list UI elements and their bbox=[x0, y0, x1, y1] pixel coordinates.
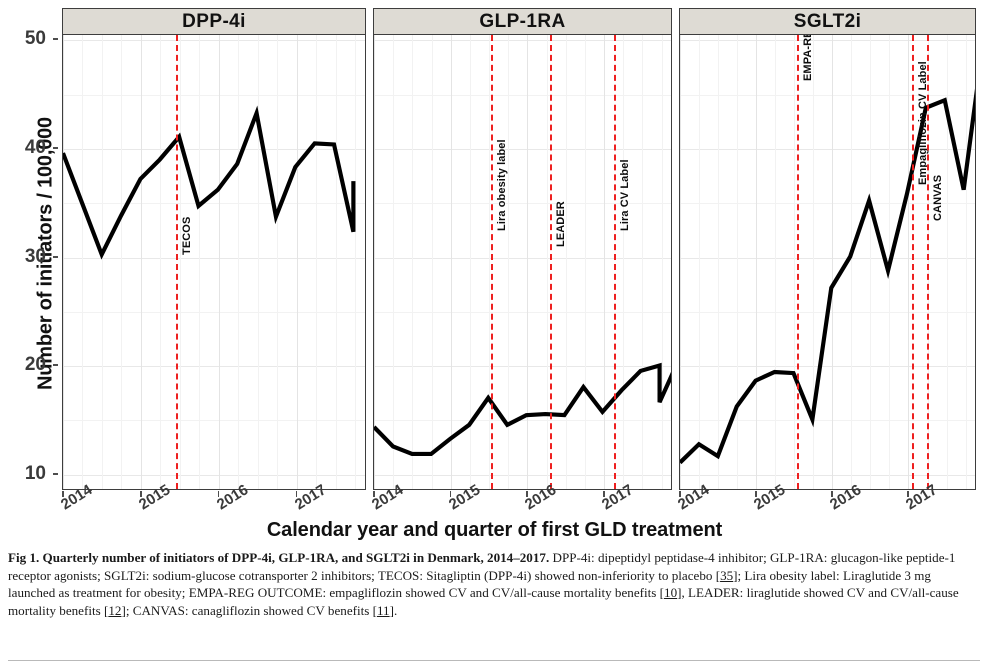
event-label-lira-cv-label: Lira CV Label bbox=[619, 159, 631, 231]
caption-text-4: ]; CANVAS: canagliflozin showed CV benef… bbox=[121, 603, 377, 618]
facet-panel-glp-1ra: GLP-1RALira obesity labelLEADERLira CV L… bbox=[373, 8, 672, 490]
caption-ref-10[interactable]: 10 bbox=[664, 585, 677, 600]
y-axis-tick-mark bbox=[53, 38, 58, 40]
y-axis-tick-mark bbox=[53, 473, 58, 475]
figure-page: Number of initiators / 100,000 102030405… bbox=[0, 0, 989, 666]
y-axis-tick-mark bbox=[53, 147, 58, 149]
series-line-dpp-4i bbox=[63, 35, 365, 489]
caption-ref-35[interactable]: 35 bbox=[720, 568, 733, 583]
facet-panel-sglt2i: SGLT2iEMPA-REG OUTCOMEEmpagliflozin CV L… bbox=[679, 8, 976, 490]
event-label-canvas: CANVAS bbox=[932, 175, 944, 221]
panel-strip-label: GLP-1RA bbox=[374, 9, 671, 35]
plot-area: Lira obesity labelLEADERLira CV Label bbox=[374, 35, 671, 489]
plot-area: TECOS bbox=[63, 35, 365, 489]
panel-strip-label: SGLT2i bbox=[680, 9, 975, 35]
y-axis-tick-label: 10 bbox=[0, 464, 46, 483]
x-axis-label: Calendar year and quarter of first GLD t… bbox=[0, 519, 989, 542]
plot-area: EMPA-REG OUTCOMEEmpagliflozin CV LabelCA… bbox=[680, 35, 975, 489]
event-vline-empagliflozin-cv-label bbox=[912, 35, 914, 489]
y-axis-tick-label: 40 bbox=[0, 138, 46, 157]
series-line-glp-1ra bbox=[374, 35, 671, 489]
event-vline-empa-reg-outcome bbox=[797, 35, 799, 489]
figure-caption: Fig 1. Quarterly number of initiators of… bbox=[8, 549, 980, 619]
event-vline-lira-obesity-label bbox=[491, 35, 493, 489]
caption-title: Fig 1. Quarterly number of initiators of… bbox=[8, 550, 549, 565]
event-label-leader: LEADER bbox=[555, 201, 567, 247]
y-axis-tick-mark bbox=[53, 256, 58, 258]
event-vline-lira-cv-label bbox=[614, 35, 616, 489]
y-axis-tick-mark bbox=[53, 364, 58, 366]
caption-ref-12[interactable]: 12 bbox=[108, 603, 121, 618]
caption-text-5: ]. bbox=[390, 603, 398, 618]
event-label-empa-reg-outcome: EMPA-REG OUTCOME bbox=[802, 35, 814, 81]
series-line-sglt2i bbox=[680, 35, 975, 489]
y-axis-tick-label: 30 bbox=[0, 247, 46, 266]
event-label-lira-obesity-label: Lira obesity label bbox=[496, 139, 508, 231]
y-axis-tick-label: 20 bbox=[0, 355, 46, 374]
event-vline-tecos bbox=[176, 35, 178, 489]
panel-strip-label: DPP-4i bbox=[63, 9, 365, 35]
y-axis-tick-label: 50 bbox=[0, 29, 46, 48]
event-vline-canvas bbox=[927, 35, 929, 489]
caption-ref-11[interactable]: 11 bbox=[377, 603, 390, 618]
event-vline-leader bbox=[550, 35, 552, 489]
facet-panel-dpp-4i: DPP-4iTECOS bbox=[62, 8, 366, 490]
event-label-tecos: TECOS bbox=[181, 217, 193, 255]
chart-figure: Number of initiators / 100,000 102030405… bbox=[0, 0, 989, 545]
caption-divider bbox=[8, 660, 980, 661]
